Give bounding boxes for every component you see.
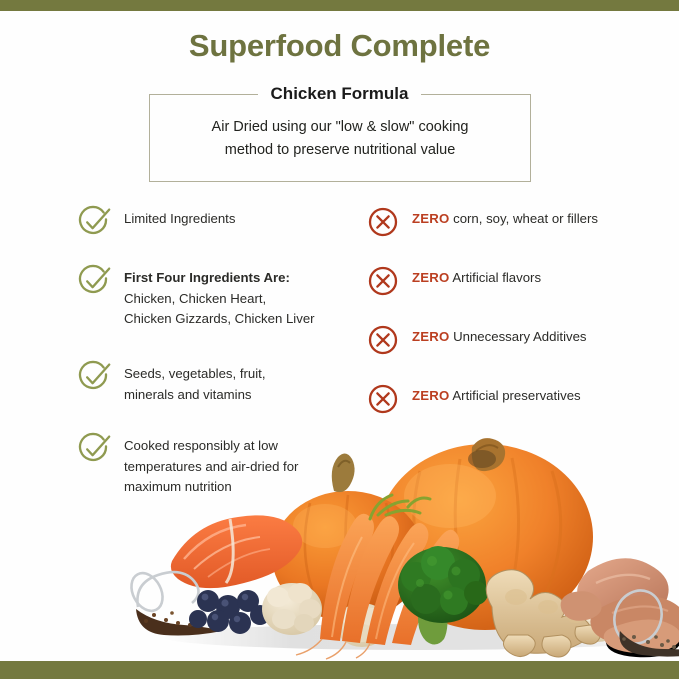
page-title: Superfood Complete	[0, 28, 679, 64]
x-circle-icon	[366, 323, 400, 357]
benefit-line: Chicken Gizzards, Chicken Liver	[124, 309, 315, 330]
benefit-line: minerals and vitamins	[124, 385, 265, 406]
benefit-text: Limited Ingredients	[124, 205, 235, 230]
exclusion-detail: corn, soy, wheat or fillers	[453, 211, 598, 226]
exclusion-detail: Artificial preservatives	[452, 388, 580, 403]
benefit-text: Cooked responsibly at lowtemperatures an…	[124, 432, 298, 498]
check-circle-icon	[78, 432, 112, 466]
formula-description-line-1: Air Dried using our "low & slow" cooking	[149, 116, 531, 139]
formula-description-line-2: method to preserve nutritional value	[149, 139, 531, 162]
exclusion-text: ZERO Artificial flavors	[412, 264, 541, 289]
exclusion-detail: Unnecessary Additives	[453, 329, 586, 344]
check-circle-icon	[78, 205, 112, 239]
exclusion-detail: Artificial flavors	[452, 270, 541, 285]
benefit-line: Cooked responsibly at low	[124, 436, 298, 457]
exclusion-text: ZERO Unnecessary Additives	[412, 323, 587, 348]
zero-label: ZERO	[412, 270, 449, 285]
benefit-item-limited-ingredients: Limited Ingredients	[78, 205, 235, 239]
exclusion-text: ZERO corn, soy, wheat or fillers	[412, 205, 598, 230]
benefit-text: First Four Ingredients Are:Chicken, Chic…	[124, 264, 315, 330]
benefit-line: maximum nutrition	[124, 477, 298, 498]
product-infographic: Superfood Complete Chicken Formula Air D…	[0, 0, 679, 679]
benefit-line: Chicken, Chicken Heart,	[124, 289, 315, 310]
exclusion-item-zero-artificial-preservatives: ZERO Artificial preservatives	[366, 382, 581, 416]
formula-heading: Chicken Formula	[0, 84, 679, 104]
zero-label: ZERO	[412, 388, 449, 403]
benefit-item-seeds-vegetables-fruit: Seeds, vegetables, fruit,minerals and vi…	[78, 360, 265, 405]
x-circle-icon	[366, 382, 400, 416]
top-accent-bar	[0, 0, 679, 11]
benefit-line: First Four Ingredients Are:	[124, 268, 315, 289]
zero-label: ZERO	[412, 211, 449, 226]
formula-heading-text: Chicken Formula	[258, 84, 422, 103]
benefit-item-first-four-ingredients: First Four Ingredients Are:Chicken, Chic…	[78, 264, 315, 330]
check-circle-icon	[78, 264, 112, 298]
formula-description: Air Dried using our "low & slow" cooking…	[149, 116, 531, 162]
check-circle-icon	[78, 360, 112, 394]
bottom-accent-bar	[0, 661, 679, 679]
x-circle-icon	[366, 264, 400, 298]
x-circle-icon	[366, 205, 400, 239]
exclusion-item-zero-artificial-flavors: ZERO Artificial flavors	[366, 264, 541, 298]
benefit-item-cooked-responsibly: Cooked responsibly at lowtemperatures an…	[78, 432, 298, 498]
benefit-line: Seeds, vegetables, fruit,	[124, 364, 265, 385]
exclusion-item-zero-corn-soy-wheat-fillers: ZERO corn, soy, wheat or fillers	[366, 205, 598, 239]
exclusion-item-zero-unnecessary-additives: ZERO Unnecessary Additives	[366, 323, 587, 357]
exclusion-text: ZERO Artificial preservatives	[412, 382, 581, 407]
zero-label: ZERO	[412, 329, 449, 344]
benefit-line: temperatures and air-dried for	[124, 457, 298, 478]
benefit-text: Seeds, vegetables, fruit,minerals and vi…	[124, 360, 265, 405]
benefit-line: Limited Ingredients	[124, 209, 235, 230]
